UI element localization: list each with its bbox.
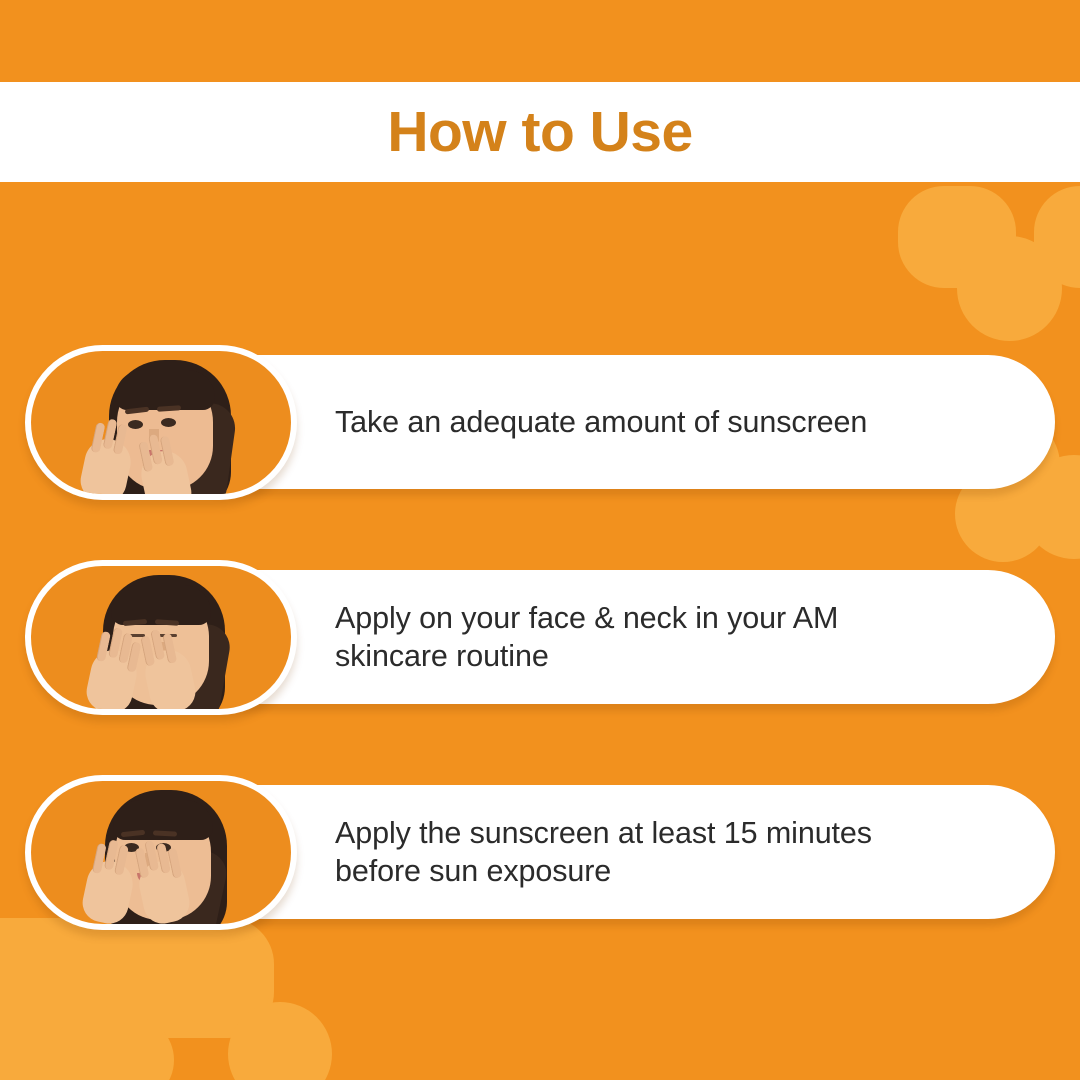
eye-left [128,420,143,429]
step-thumbnail [25,345,297,500]
step-text: Take an adequate amount of sunscreen [335,403,937,441]
step-thumbnail [25,775,297,930]
step-text-line2: before sun exposure [335,852,872,890]
decor-blob-bl-2 [104,918,274,1038]
decor-blob-bl-3 [172,930,272,1030]
step-image [31,781,291,924]
step-row: Apply the sunscreen at least 15 minutes … [0,775,1080,930]
step-image [31,351,291,494]
step-text-line1: Take an adequate amount of sunscreen [335,405,867,439]
decor-blob-bl-4 [48,1016,174,1080]
decor-blob-tr-1 [898,186,1016,288]
step-text-line1: Apply the sunscreen at least 15 minutes [335,816,872,850]
step-row: Take an adequate amount of sunscreen [0,345,1080,500]
page-title: How to Use [387,104,692,161]
decor-blob-bl-1 [0,918,168,1080]
step-text: Apply on your face & neck in your AM ski… [335,599,908,675]
step-image [31,566,291,709]
header-band: How to Use [0,82,1080,182]
fringe-shape [115,370,215,410]
step-row: Apply on your face & neck in your AM ski… [0,560,1080,715]
step-thumbnail [25,560,297,715]
how-to-use-infographic: How to Use Take an adequate amount of su… [0,0,1080,1080]
decor-blob-tr-2 [1034,186,1080,288]
decor-blob-tr-3 [957,236,1062,341]
eye-right [161,418,176,427]
step-text-line1: Apply on your face & neck in your AM [335,601,838,635]
decor-blob-bl-5 [228,1002,332,1080]
step-text: Apply the sunscreen at least 15 minutes … [335,814,942,890]
step-text-line2: skincare routine [335,637,838,675]
